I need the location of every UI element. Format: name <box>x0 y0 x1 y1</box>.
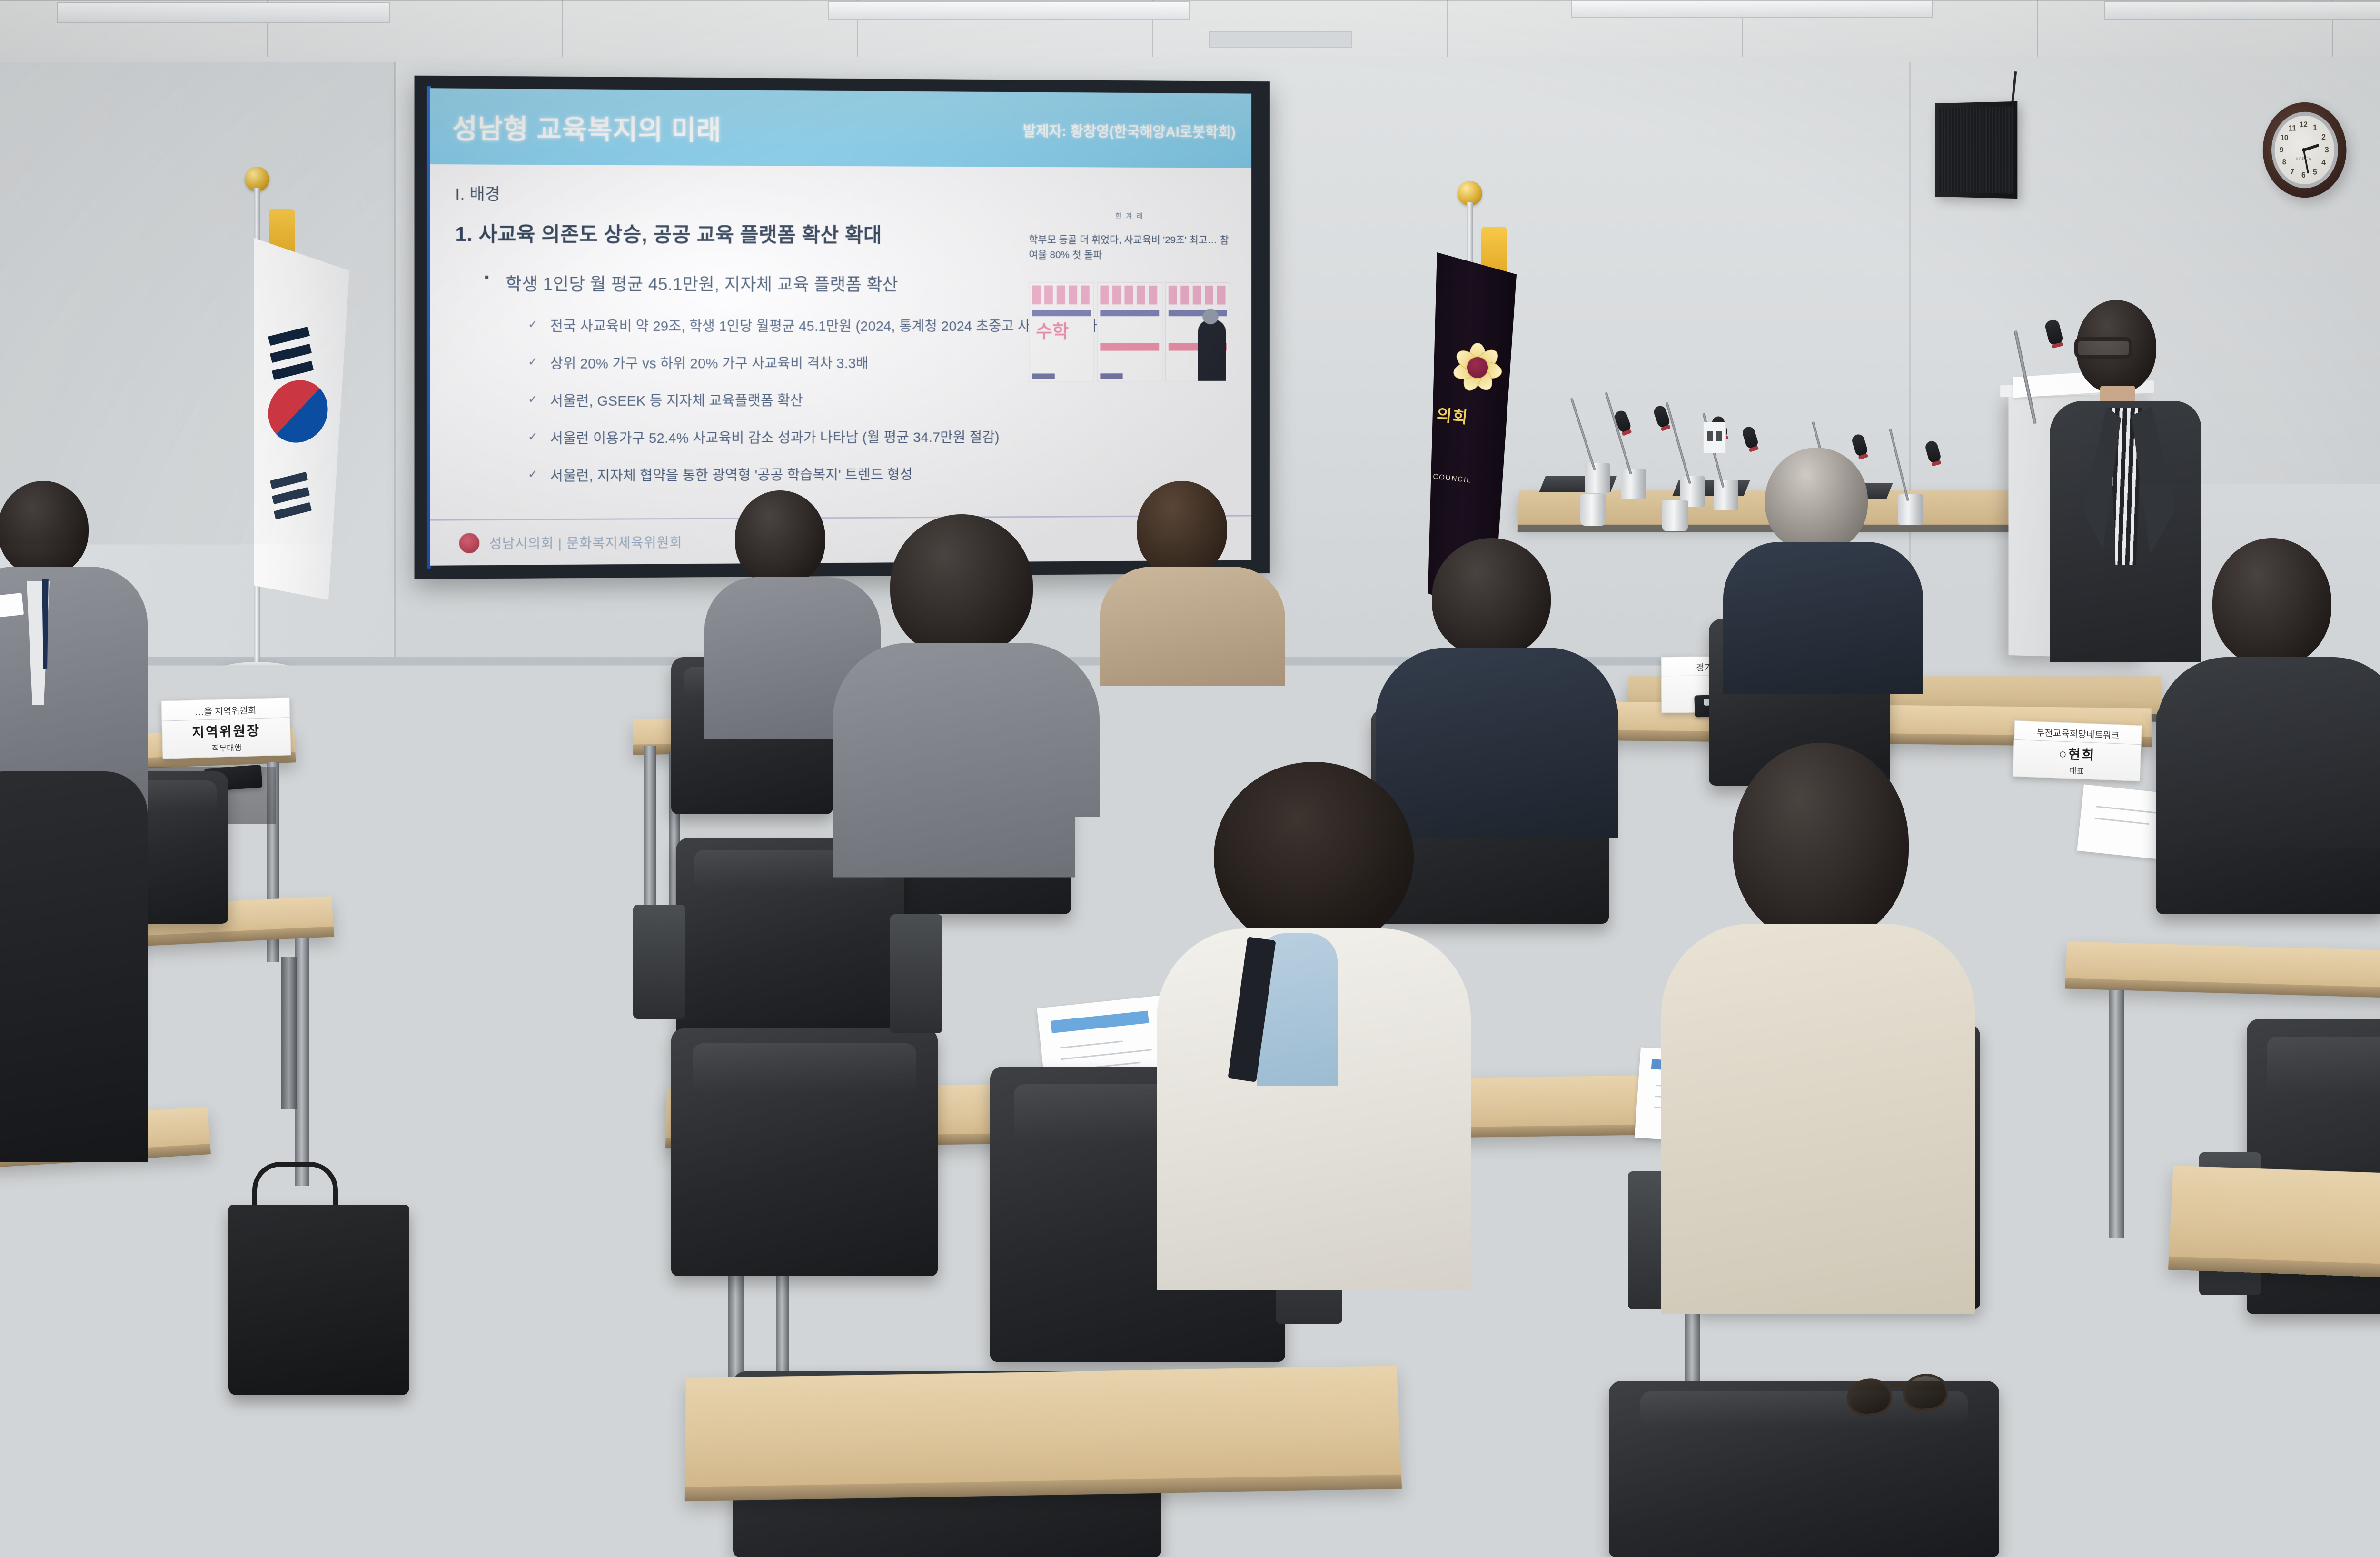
handbag-icon[interactable] <box>228 1205 409 1395</box>
wall-seam <box>394 62 396 681</box>
speaker-grille <box>1939 106 2013 193</box>
drinking-cup[interactable] <box>1580 494 1606 526</box>
slide-footer-text: 성남시의회 | 문화복지체육위원회 <box>489 532 683 552</box>
microphone-base <box>1621 469 1646 499</box>
clock-number: 4 <box>2321 158 2326 168</box>
clock-center-pin <box>2302 148 2305 152</box>
audience-person <box>1728 448 1918 686</box>
nameplate: …울 지역위원회 지역위원장 직무대행 <box>161 697 291 759</box>
audience-person <box>1642 743 1985 1314</box>
desk-leg <box>295 938 309 1186</box>
desk-leg <box>2109 990 2124 1238</box>
news-thumb <box>1097 282 1162 382</box>
news-headline: 학부모 등골 더 휘었다, 사교육비 '29조' 최고… 참여율 80% 첫 돌… <box>1029 232 1230 262</box>
person-head <box>1137 481 1227 576</box>
korean-flag-cloth <box>254 238 349 600</box>
nameplate-org: …울 지역위원회 <box>162 701 290 721</box>
news-thumb-label: 수학 <box>1036 317 1069 343</box>
nameplate-name: 지역위원장 <box>192 719 261 742</box>
nameplate: 부천교육희망네트워크 ○현희 대표 <box>2013 720 2142 781</box>
taeguk-symbol-icon <box>262 372 334 451</box>
person-torso <box>833 643 1100 890</box>
emblem-center <box>1466 356 1489 379</box>
nameplate-role: 대표 <box>2069 764 2084 776</box>
ceiling-light <box>57 2 390 23</box>
clock-face: 12 1 2 3 4 5 6 7 8 9 10 11 KOREA <box>2275 114 2334 185</box>
light-switch-plate[interactable] <box>1703 422 1726 453</box>
person-head <box>1214 762 1414 952</box>
audience-person <box>1104 481 1276 681</box>
news-thumb <box>1165 282 1230 381</box>
slide-title: 성남형 교육복지의 미래 <box>452 107 722 147</box>
person-head <box>2212 538 2331 667</box>
slide-subbullet: 서울런, GSEEK 등 지자체 교육플랫폼 확산 <box>528 390 1231 412</box>
clock-number: 9 <box>2280 145 2283 155</box>
person-torso <box>0 771 148 1162</box>
person-head <box>890 514 1033 657</box>
person-head <box>0 481 89 576</box>
drinking-cup[interactable] <box>1662 500 1688 531</box>
clock-number: 3 <box>2325 145 2329 155</box>
clock-hour-hand <box>2303 144 2319 151</box>
foreground-desk <box>685 1366 1402 1501</box>
person-head <box>1432 538 1551 657</box>
slide-header-bar: 성남형 교육복지의 미래 발제자: 황창영(한국해양AI로봇학회) <box>430 88 1251 168</box>
meeting-room-photo: 성남형 교육복지의 미래 발제자: 황창영(한국해양AI로봇학회) I. 배경 … <box>0 0 2380 1557</box>
person-head <box>1733 743 1909 943</box>
news-source: 한 겨 레 <box>1029 210 1230 220</box>
chair-armrest <box>633 905 685 1019</box>
person-torso <box>1100 567 1285 686</box>
chair[interactable] <box>671 1028 938 1276</box>
eyeglasses-icon <box>2074 337 2132 359</box>
news-clipping: 한 겨 레 학부모 등골 더 휘었다, 사교육비 '29조' 최고… 참여율 8… <box>1029 210 1230 381</box>
nameplate-role: 직무대행 <box>212 741 242 754</box>
clock-brand: KOREA <box>2296 157 2311 161</box>
chair-armrest <box>890 914 942 1033</box>
slide-presenter-credit: 발제자: 황창영(한국해양AI로봇학회) <box>1023 119 1236 141</box>
person-torso <box>2156 657 2380 848</box>
slide-subbullet: 서울런 이용가구 52.4% 사교육비 감소 성과가 나타남 (월 평균 34.… <box>528 427 1231 449</box>
audience-person <box>2156 538 2380 843</box>
handbag-handle <box>252 1162 338 1209</box>
flag-base-stand <box>214 662 300 681</box>
national-flag <box>157 167 357 700</box>
clock-minute-hand <box>2303 150 2309 174</box>
slide-section-label: I. 배경 <box>455 181 1231 207</box>
microphone-base <box>1585 463 1610 493</box>
ceiling-vent <box>1209 31 1352 48</box>
loudspeaker-icon <box>1935 101 2017 199</box>
clock-number: 2 <box>2321 132 2326 142</box>
foreground-desk-right <box>2168 1166 2380 1282</box>
person-torso <box>1661 924 1975 1314</box>
news-thumb: 수학 <box>1029 282 1094 381</box>
clock-number: 12 <box>2300 120 2308 130</box>
person-head <box>1765 448 1868 552</box>
clock-number: 1 <box>2313 123 2317 132</box>
audience-person <box>1142 762 1476 1286</box>
council-flag-text: 의회 <box>1436 406 1499 430</box>
news-thumb-figure <box>1198 319 1226 381</box>
council-emblem-icon <box>1453 343 1502 392</box>
desk-leg <box>333 800 347 1000</box>
clock-number: 7 <box>2291 167 2294 177</box>
nameplate-org: 부천교육희망네트워크 <box>2014 723 2142 745</box>
person-head <box>735 490 825 586</box>
audience-person <box>0 743 143 1171</box>
clock-number: 5 <box>2313 167 2317 177</box>
clock-number: 8 <box>2282 158 2286 167</box>
chair-post <box>281 957 297 1109</box>
ceiling-light <box>1571 0 1933 18</box>
person-torso <box>1723 542 1923 694</box>
clock-number: 11 <box>2289 123 2296 133</box>
ceiling-light <box>2104 1 2380 20</box>
audience-person <box>843 514 1090 886</box>
ceiling-light <box>828 1 1190 20</box>
council-flag-subtext: COUNCIL <box>1433 472 1505 488</box>
clock-number: 6 <box>2301 170 2306 180</box>
clock-number: 10 <box>2281 133 2288 143</box>
nameplate-name: ○현희 <box>2058 742 2096 765</box>
clock-bezel: 12 1 2 3 4 5 6 7 8 9 10 11 KOREA <box>2271 110 2338 190</box>
council-logo-icon <box>459 533 480 553</box>
news-thumbnails: 수학 <box>1029 282 1230 381</box>
